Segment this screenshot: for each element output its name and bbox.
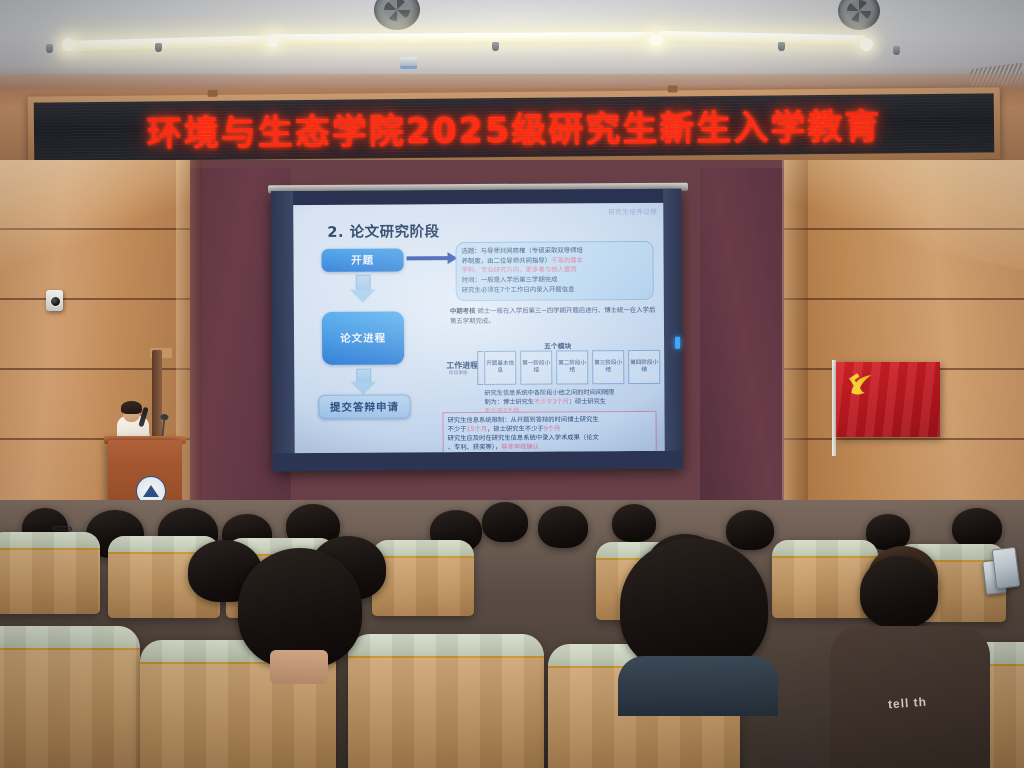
limit-line-4: 、专利、获奖等）， <box>448 444 502 451</box>
acoustic-panel-right <box>700 168 788 520</box>
flow-box-label: 提交答辩申请 <box>330 399 399 414</box>
interval-note-hl-1: 不少于3个月 <box>534 398 569 405</box>
audience-neck <box>270 650 328 684</box>
banner-bracket <box>668 85 678 92</box>
smoke-detector-icon <box>400 57 417 69</box>
module-cell: 第四阶段小结 <box>628 350 660 384</box>
presentation-slide: 研究生培养过程 2. 论文研究阶段 开题 论文进程 提交答辩申请 <box>293 203 665 453</box>
auditorium-seat <box>348 634 544 768</box>
audience-shirt <box>618 656 778 716</box>
callout-line-2: 养制度，由二位导师共同指导） <box>462 256 552 265</box>
flow-box-label: 开题 <box>351 253 374 268</box>
audience-head <box>952 508 1002 548</box>
midterm-label: 中期考核 <box>450 307 476 315</box>
auditorium-seat <box>0 626 140 768</box>
arrow-down-icon <box>350 382 376 395</box>
screen-power-led-icon <box>675 337 680 349</box>
audience-head <box>726 510 774 550</box>
module-cell: 第一阶段小结 <box>520 351 552 385</box>
slide-watermark: 研究生培养过程 <box>608 206 657 216</box>
ceiling-spotlight-icon <box>492 42 499 51</box>
ceiling-light-strip <box>272 32 657 45</box>
modules-row: 开题基本信息 第一阶段小结 第二阶段小结 第三阶段小结 第四阶段小结 <box>484 350 660 385</box>
work-process-sublabel: 阶段审核 <box>449 370 467 376</box>
modules-heading: 五个模块 <box>544 340 571 350</box>
ceiling-spotlight-icon <box>778 42 785 51</box>
audience-head <box>860 556 938 628</box>
tshirt-print-text: tell th <box>888 695 928 712</box>
projection-screen[interactable]: 研究生培养过程 2. 论文研究阶段 开题 论文进程 提交答辩申请 <box>271 189 683 471</box>
modules-bracket-icon <box>477 351 483 385</box>
module-cell: 开题基本信息 <box>484 351 516 385</box>
callout-line-5: 研究生必须在7个工作日内录入开题信息 <box>462 285 648 296</box>
limit-hl-2: 9个月 <box>544 426 561 433</box>
led-banner-frame: 环境与生态学院2025级研究生新生入学教育 <box>28 87 1001 168</box>
speaker-hair <box>121 401 142 414</box>
arrow-down-shaft <box>356 369 371 383</box>
light-end-cap <box>62 38 75 51</box>
banner-bracket <box>208 90 218 97</box>
hammer-and-sickle-icon <box>846 371 880 401</box>
slide-system-limit-box: 研究生信息系统限制：从开题到答辩的时间博士研究生 不少于15个月，硕士研究生不少… <box>443 411 657 453</box>
flow-box-label: 论文进程 <box>340 331 386 346</box>
flow-box-thesis-progress: 论文进程 <box>322 311 404 364</box>
callout-line-2-highlight: 不等的需本 <box>551 256 583 264</box>
light-end-cap <box>860 38 873 51</box>
cpc-party-flag <box>836 362 940 437</box>
smartphone-icon[interactable] <box>992 547 1021 590</box>
arrow-down-shaft <box>356 275 371 291</box>
ceiling <box>0 0 1024 92</box>
interval-note-line-2-tail: ；硕士研究生 <box>569 398 606 405</box>
module-cell: 第二阶段小结 <box>556 350 588 384</box>
screen-bezel-bottom <box>273 451 683 472</box>
audience-area: tell th <box>0 500 1024 768</box>
auditorium-seat <box>0 532 100 614</box>
limit-hl-1: 15个月 <box>466 426 487 433</box>
crest-triangle-glyph <box>143 485 159 497</box>
audience-head <box>612 504 656 542</box>
led-banner-screen: 环境与生态学院2025级研究生新生入学教育 <box>34 93 995 161</box>
screen-bezel-left <box>271 191 295 471</box>
slide-callout-box: 选题：与导师共同商榷（专硕采取双导师培 养制度，由二位导师共同指导）不等的需本 … <box>455 241 653 301</box>
led-banner-text: 环境与生态学院2025级研究生新生入学教育 <box>147 98 882 156</box>
slide-midterm-note: 中期考核 硕士一般在入学后第三~四学期开题后进行、博士统一在入学后第五学期完成。 <box>450 306 658 326</box>
audience-head <box>538 506 588 548</box>
surveillance-camera-icon <box>46 290 63 311</box>
flow-box-topic-proposal: 开题 <box>322 248 404 272</box>
audience-head <box>482 502 528 542</box>
limit-line-2: 不少于 <box>448 426 467 433</box>
limit-line-2-mid: ，硕士研究生不少于 <box>487 426 544 433</box>
auditorium-seat <box>372 540 474 616</box>
audience-head-foreground <box>620 538 768 674</box>
screen-bezel-right <box>663 189 683 469</box>
ceiling-spotlight-icon <box>893 46 900 55</box>
module-cell: 第三阶段小结 <box>592 350 624 384</box>
arrow-down-icon <box>350 290 376 303</box>
light-end-cap <box>266 34 279 47</box>
flow-box-defense-application: 提交答辩申请 <box>318 394 410 419</box>
midterm-text: 硕士一般在入学后第三~四学期开题后进行、博士统一在入学后第五学期完成。 <box>450 306 656 325</box>
auditorium-scene: 环境与生态学院2025级研究生新生入学教育 研究生培养过程 2. 论文研究阶段 … <box>0 0 1024 768</box>
limit-hl-3: 导师审核确认 <box>501 444 539 451</box>
light-end-cap <box>650 33 663 46</box>
slide-title: 2. 论文研究阶段 <box>327 220 439 242</box>
ceiling-spotlight-icon <box>155 43 162 52</box>
interval-note-line-2: 制为：博士研究生 <box>484 399 534 406</box>
arrow-right-icon <box>407 256 449 260</box>
ceiling-spotlight-icon <box>46 44 53 53</box>
